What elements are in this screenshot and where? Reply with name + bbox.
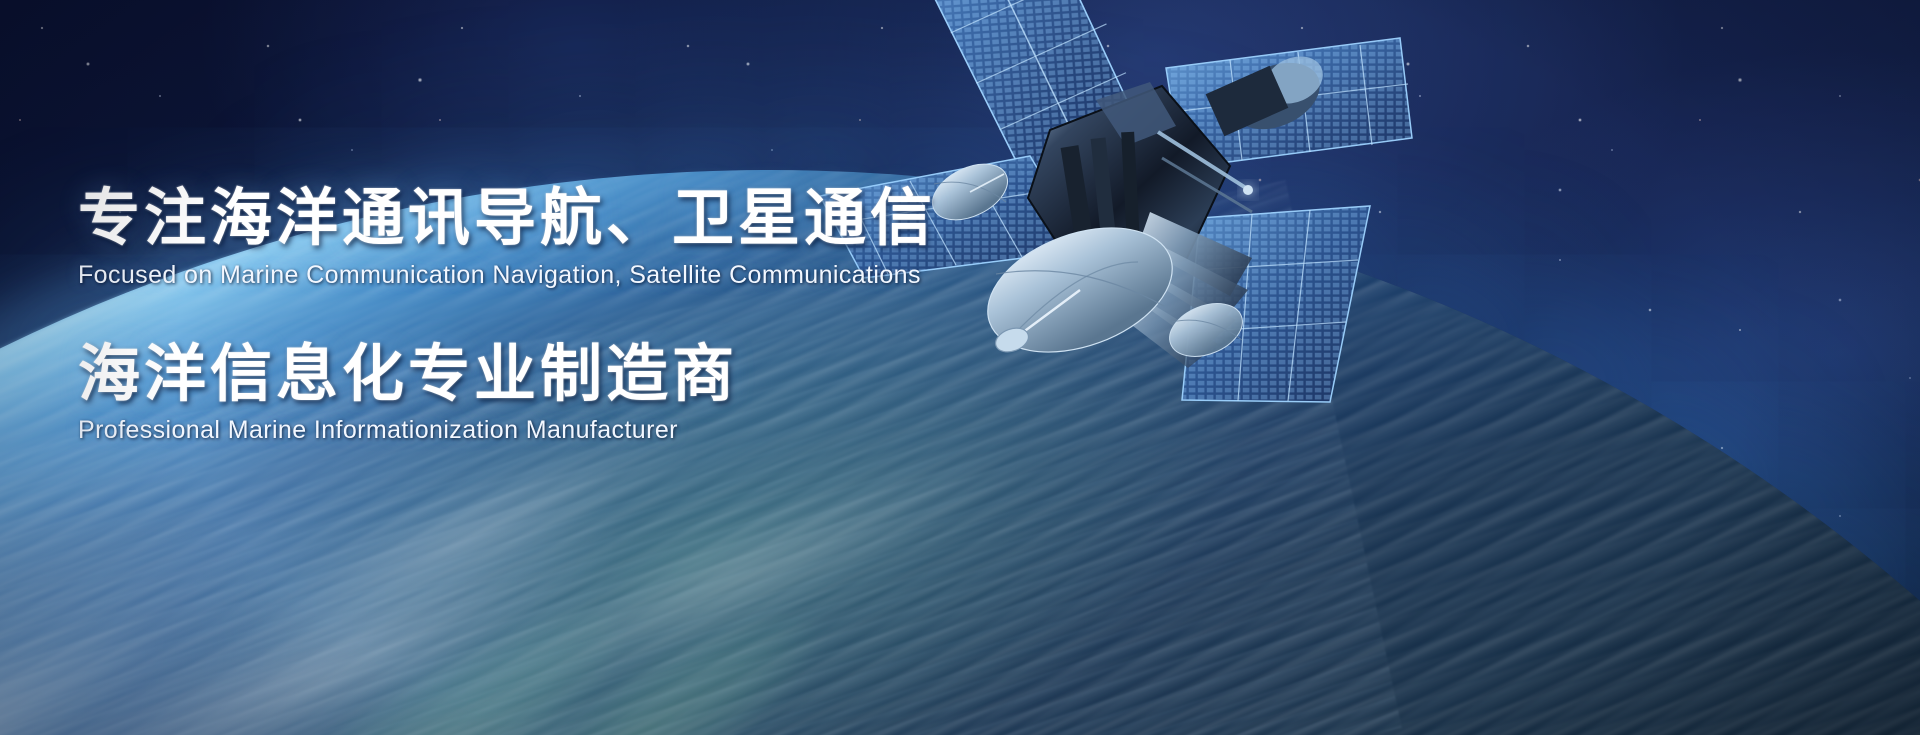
subline-primary: Focused on Marine Communication Navigati… (78, 261, 1078, 290)
banner-copy: 专注海洋通讯导航、卫星通信 Focused on Marine Communic… (78, 186, 1078, 445)
headline-primary: 专注海洋通讯导航、卫星通信 (78, 186, 1078, 252)
headline-block-secondary: 海洋信息化专业制造商 Professional Marine Informati… (78, 342, 1078, 446)
headline-secondary: 海洋信息化专业制造商 (78, 342, 1078, 408)
subline-secondary: Professional Marine Informationization M… (78, 416, 1078, 445)
hero-banner: 专注海洋通讯导航、卫星通信 Focused on Marine Communic… (0, 0, 1920, 735)
headline-block-primary: 专注海洋通讯导航、卫星通信 Focused on Marine Communic… (78, 186, 1078, 290)
